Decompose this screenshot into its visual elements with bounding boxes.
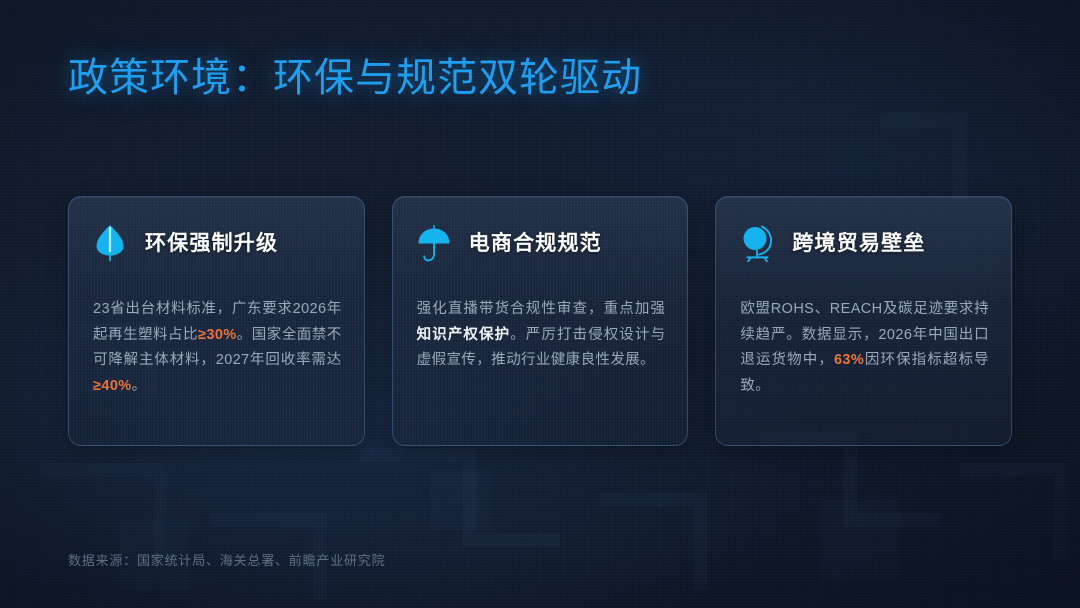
card-body: 23省出台材料标准，广东要求2026年起再生塑料占比≥30%。国家全面禁不可降解…: [93, 297, 342, 399]
leaf-icon: [91, 222, 129, 262]
card-body: 强化直播带货合规性审查，重点加强知识产权保护。严厉打击侵权设计与虚假宣传，推动行…: [417, 297, 666, 374]
card-header: 环保强制升级: [91, 219, 346, 265]
body-highlight: 63%: [834, 352, 864, 368]
globe-icon: [738, 222, 776, 262]
card-body: 欧盟ROHS、REACH及碳足迹要求持续趋严。数据显示，2026年中国出口退运货…: [740, 297, 989, 399]
card-title: 电商合规规范: [469, 227, 602, 257]
page-title: 政策环境：环保与规范双轮驱动: [68, 52, 642, 104]
body-highlight: ≥40%: [93, 378, 132, 394]
body-text: 。: [132, 378, 147, 394]
policy-card[interactable]: 环保强制升级 23省出台材料标准，广东要求2026年起再生塑料占比≥30%。国家…: [68, 196, 365, 446]
policy-card[interactable]: 电商合规规范 强化直播带货合规性审查，重点加强知识产权保护。严厉打击侵权设计与虚…: [392, 196, 689, 446]
card-title: 环保强制升级: [145, 227, 278, 257]
policy-card-list: 环保强制升级 23省出台材料标准，广东要求2026年起再生塑料占比≥30%。国家…: [68, 196, 1012, 446]
body-highlight: ≥30%: [198, 327, 237, 343]
card-header: 电商合规规范: [415, 219, 670, 265]
card-header: 跨境贸易壁垒: [738, 219, 993, 265]
policy-card[interactable]: 跨境贸易壁垒 欧盟ROHS、REACH及碳足迹要求持续趋严。数据显示，2026年…: [715, 196, 1012, 446]
body-highlight: 知识产权保护: [417, 327, 511, 343]
body-text: 强化直播带货合规性审查，重点加强: [417, 301, 666, 317]
data-source-footer: 数据来源：国家统计局、海关总署、前瞻产业研究院: [68, 550, 385, 569]
umbrella-icon: [415, 222, 453, 262]
card-title: 跨境贸易壁垒: [792, 227, 925, 257]
